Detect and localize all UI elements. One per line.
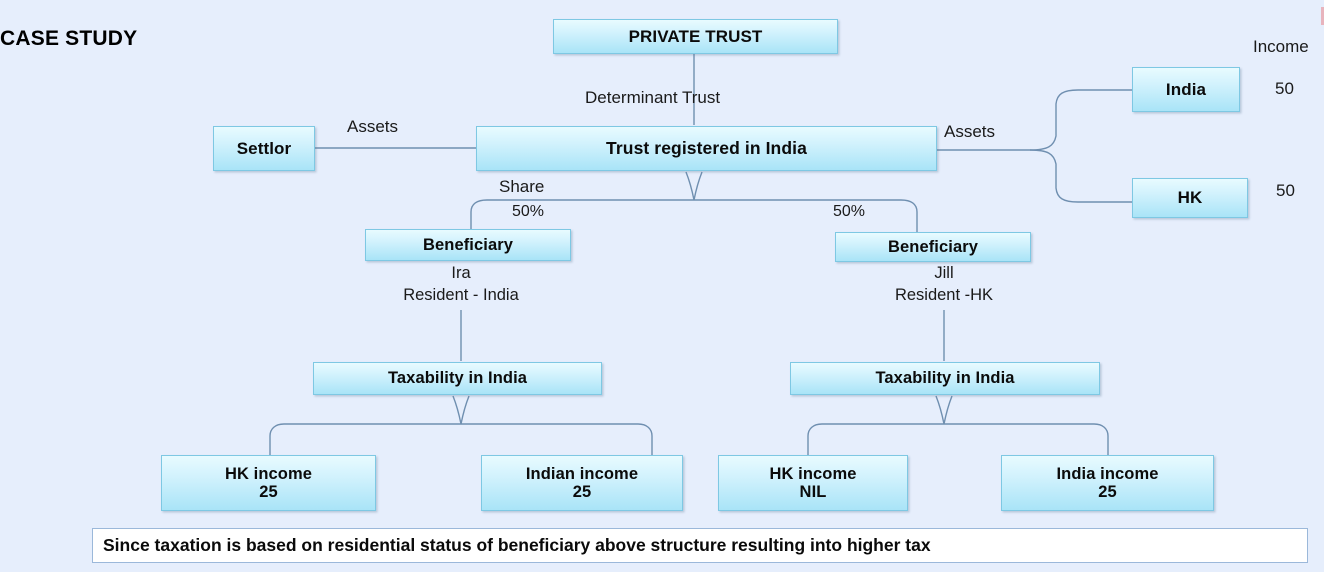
brace-right-tax-split [808,424,1108,455]
label-share: Share [499,177,544,197]
node-right-india-income-value: 25 [1098,483,1117,501]
node-taxability-left-label: Taxability in India [388,369,527,387]
label-assets-right: Assets [944,122,995,142]
node-hk[interactable]: HK [1132,178,1248,218]
node-right-hk-income-value: NIL [800,483,827,501]
node-beneficiary-left[interactable]: Beneficiary [365,229,571,261]
node-private-trust-label: PRIVATE TRUST [629,27,763,46]
node-hk-label: HK [1178,188,1203,207]
label-hk-income-value: 50 [1276,181,1295,201]
summary-banner: Since taxation is based on residential s… [92,528,1308,563]
node-beneficiary-right-label: Beneficiary [888,238,978,256]
node-beneficiary-right[interactable]: Beneficiary [835,232,1031,262]
node-private-trust[interactable]: PRIVATE TRUST [553,19,838,54]
label-india-income-value: 50 [1275,79,1294,99]
node-trust-registered-label: Trust registered in India [606,139,807,159]
node-left-indian-income[interactable]: Indian income 25 [481,455,683,511]
node-left-hk-income-value: 25 [259,483,278,501]
node-left-hk-income-title: HK income [225,465,312,483]
node-left-indian-income-value: 25 [573,483,592,501]
node-settlor-label: Settlor [237,139,292,158]
node-trust-registered-in-india[interactable]: Trust registered in India [476,126,937,171]
label-share-right-percent: 50% [833,203,865,221]
node-beneficiary-left-label: Beneficiary [423,236,513,254]
brace-trust-to-beneficiaries [686,172,702,200]
node-settlor[interactable]: Settlor [213,126,315,171]
label-income-header: Income [1253,37,1309,57]
brace-right-assets [1030,90,1132,150]
brace-left-tax-peak [453,396,469,424]
diagram-canvas: CASE STUDY PRIVATE TRUST Trust registere… [0,0,1324,572]
node-right-india-income-title: India income [1056,465,1158,483]
page-title: CASE STUDY [0,27,137,51]
label-share-left-percent: 50% [512,203,544,221]
node-india-label: India [1166,80,1206,99]
brace-right-assets-lower [1030,150,1132,202]
node-left-hk-income[interactable]: HK income 25 [161,455,376,511]
node-left-indian-income-title: Indian income [526,465,638,483]
label-beneficiary-right-name: Jill [894,264,994,283]
node-right-india-income[interactable]: India income 25 [1001,455,1214,511]
summary-banner-text: Since taxation is based on residential s… [103,535,931,556]
brace-right-tax-peak [936,396,952,424]
label-beneficiary-left-name: Ira [411,264,511,283]
node-taxability-left[interactable]: Taxability in India [313,362,602,395]
label-assets-left: Assets [347,117,398,137]
node-right-hk-income[interactable]: HK income NIL [718,455,908,511]
node-taxability-right-label: Taxability in India [875,369,1014,387]
brace-left-tax-split [270,424,652,455]
label-beneficiary-left-residence: Resident - India [361,286,561,305]
node-right-hk-income-title: HK income [769,465,856,483]
label-beneficiary-right-residence: Resident -HK [844,286,1044,305]
label-determinant-trust: Determinant Trust [585,88,720,108]
node-taxability-right[interactable]: Taxability in India [790,362,1100,395]
node-india[interactable]: India [1132,67,1240,112]
